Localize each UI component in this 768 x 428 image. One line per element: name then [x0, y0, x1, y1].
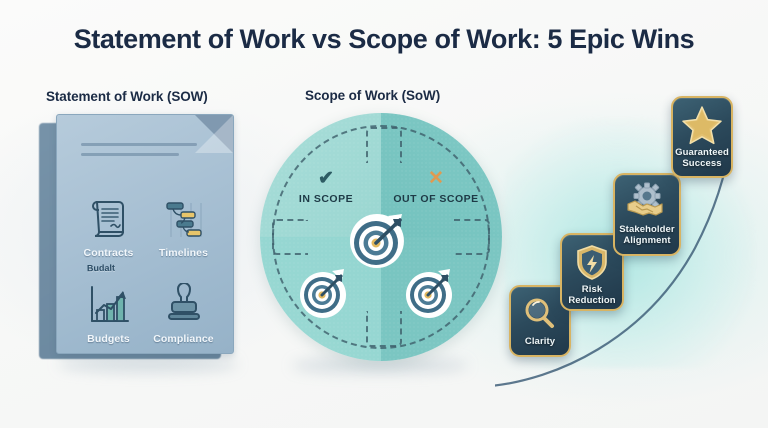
benefit-card-stakeholder-alignment[interactable]: Stakeholder Alignment — [613, 173, 681, 256]
star-icon — [681, 105, 723, 145]
target-arrow-icon — [296, 265, 350, 319]
page-title: Statement of Work vs Scope of Work: 5 Ep… — [0, 24, 768, 55]
benefit-card-label: Stakeholder Alignment — [615, 224, 679, 246]
doc-item-compliance: Compliance — [146, 259, 221, 345]
document-rule-line — [81, 153, 179, 156]
document-front-page: Budalt — [56, 114, 234, 354]
doc-item-timelines: Timelines — [146, 173, 221, 259]
magnifying-glass-icon — [521, 294, 559, 334]
dashed-notch-right — [454, 219, 490, 255]
handshake-gear-icon — [625, 182, 669, 222]
doc-item-contracts: Contracts — [71, 173, 146, 259]
benefit-card-label: Risk Reduction — [562, 284, 622, 306]
gantt-chart-icon — [161, 193, 207, 245]
scope-circle-diagram: ✔ IN SCOPE ✕ OUT OF SCOPE — [260, 113, 502, 361]
sow-section-heading: Statement of Work (SOW) — [46, 89, 208, 104]
benefit-card-label: Guaranteed Success — [673, 147, 731, 169]
dashed-notch-left — [272, 219, 308, 255]
doc-item-label: Budgets — [87, 333, 130, 345]
in-scope-group: ✔ IN SCOPE — [274, 169, 378, 205]
document-icon-grid: Contracts — [71, 173, 221, 345]
doc-item-label: Timelines — [159, 247, 208, 259]
sow-document: Budalt — [48, 114, 238, 360]
rubber-stamp-icon — [162, 279, 206, 331]
cross-icon: ✕ — [384, 169, 488, 189]
dashed-notch-bottom — [366, 311, 402, 347]
scroll-document-icon — [89, 193, 129, 245]
bar-chart-growth-icon — [85, 279, 133, 331]
out-of-scope-label: OUT OF SCOPE — [384, 193, 488, 205]
check-icon: ✔ — [274, 169, 378, 189]
scope-section-heading: Scope of Work (SoW) — [305, 88, 440, 103]
infographic-canvas: Statement of Work vs Scope of Work: 5 Ep… — [0, 0, 768, 428]
benefit-card-label: Clarity — [511, 336, 569, 347]
in-scope-label: IN SCOPE — [274, 193, 378, 205]
document-rule-line — [81, 143, 197, 146]
doc-item-label: Compliance — [153, 333, 214, 345]
benefits-staircase: Clarity Risk Reduction — [495, 88, 768, 393]
target-arrow-icon — [402, 265, 456, 319]
shield-bolt-icon — [574, 242, 610, 282]
out-of-scope-group: ✕ OUT OF SCOPE — [384, 169, 488, 205]
doc-item-budgets: Budgets — [71, 259, 146, 345]
benefit-card-guaranteed-success[interactable]: Guaranteed Success — [671, 96, 733, 178]
dashed-notch-top — [366, 127, 402, 163]
doc-item-label: Contracts — [84, 247, 134, 259]
page-fold-highlight — [195, 115, 233, 153]
target-arrow-icon — [344, 208, 410, 274]
